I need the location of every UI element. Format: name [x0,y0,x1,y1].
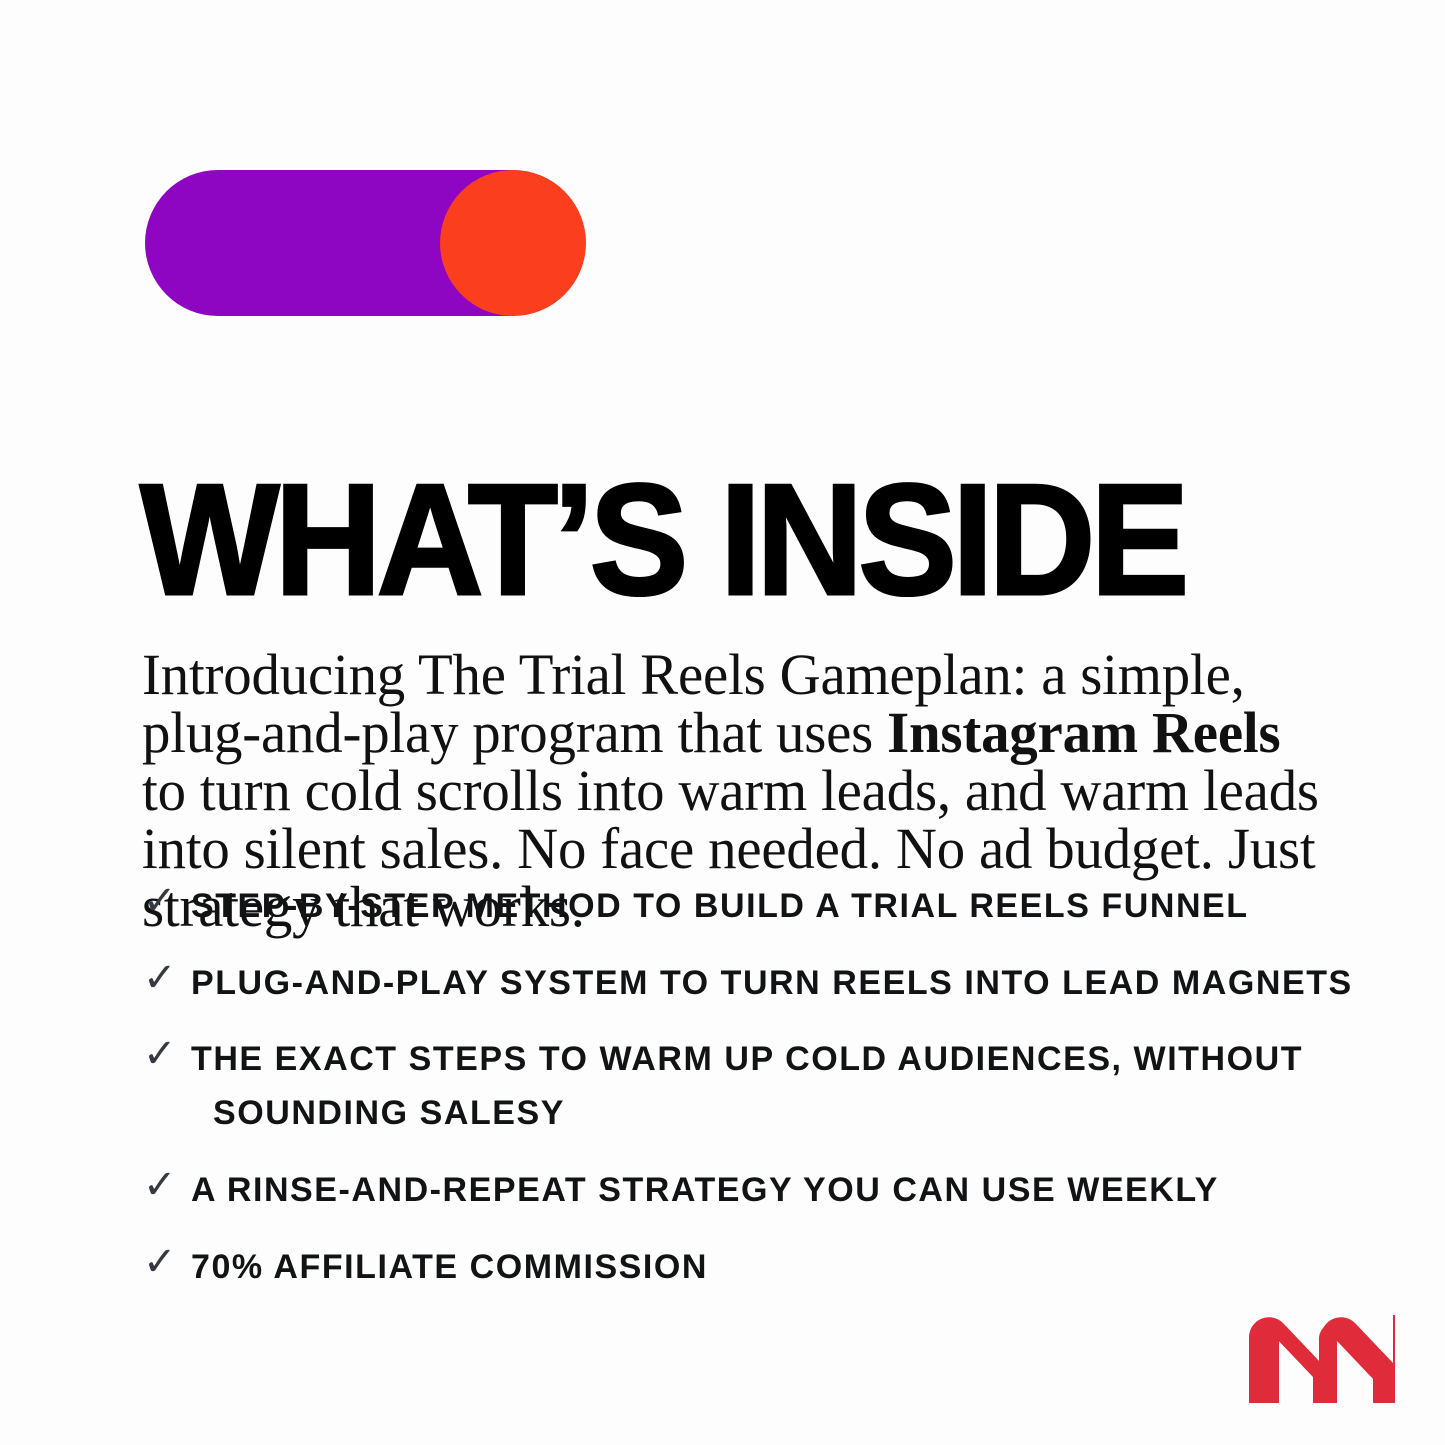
list-item-line: THE EXACT STEPS TO WARM UP COLD AUDIENCE… [191,1040,1303,1078]
check-icon: ✓ [143,958,187,998]
list-item-line-wrapped: SOUNDING SALESY [191,1087,1373,1141]
check-icon: ✓ [143,1034,187,1074]
list-item-label: 70% AFFILIATE COMMISSION [191,1241,1373,1295]
poster-canvas: WHAT’S INSIDE Introducing The Trial Reel… [0,0,1445,1445]
toggle-knob-icon [440,170,586,316]
toggle-switch-graphic [145,170,585,316]
check-icon: ✓ [143,881,187,921]
list-item-line: STEP-BY-STEP METHOD TO BUILD A TRIAL REE… [191,887,1249,925]
check-icon: ✓ [143,1242,187,1282]
list-item-label: THE EXACT STEPS TO WARM UP COLD AUDIENCE… [191,1033,1373,1140]
list-item-line: PLUG-AND-PLAY SYSTEM TO TURN REELS INTO … [191,964,1353,1002]
list-item: ✓ PLUG-AND-PLAY SYSTEM TO TURN REELS INT… [143,957,1373,1011]
list-item: ✓ A RINSE-AND-REPEAT STRATEGY YOU CAN US… [143,1164,1373,1218]
list-item-label: PLUG-AND-PLAY SYSTEM TO TURN REELS INTO … [191,957,1373,1011]
list-item: ✓ STEP-BY-STEP METHOD TO BUILD A TRIAL R… [143,880,1373,934]
intro-paragraph-emphasis: Instagram Reels [887,700,1280,765]
check-icon: ✓ [143,1165,187,1205]
list-item-label: STEP-BY-STEP METHOD TO BUILD A TRIAL REE… [191,880,1373,934]
list-item-line: A RINSE-AND-REPEAT STRATEGY YOU CAN USE … [191,1171,1219,1209]
list-item: ✓ 70% AFFILIATE COMMISSION [143,1241,1373,1295]
list-item-line: 70% AFFILIATE COMMISSION [191,1248,708,1286]
page-title: WHAT’S INSIDE [140,461,1290,619]
features-checklist: ✓ STEP-BY-STEP METHOD TO BUILD A TRIAL R… [143,880,1373,1317]
list-item: ✓ THE EXACT STEPS TO WARM UP COLD AUDIEN… [143,1033,1373,1140]
list-item-label: A RINSE-AND-REPEAT STRATEGY YOU CAN USE … [191,1164,1373,1218]
brand-logo-nn-icon [1247,1315,1397,1403]
